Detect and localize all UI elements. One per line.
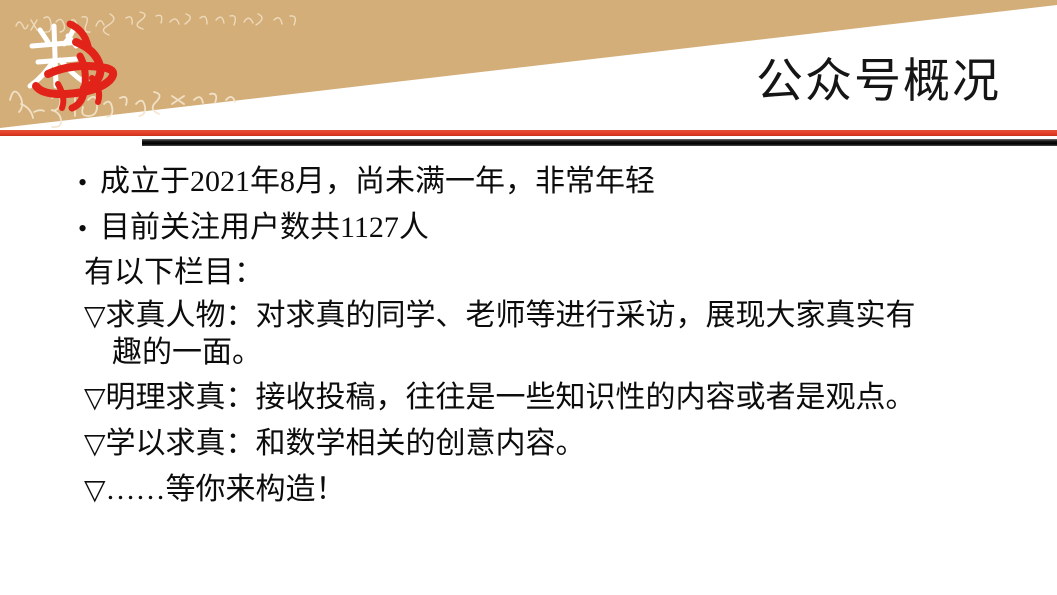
bullet-marker-icon: • [78,209,100,249]
brand-logo [14,12,134,116]
column-item-1: ▽求真人物：对求真的同学、老师等进行采访，展现大家真实有 [84,296,916,337]
logo-glyph-white [30,26,84,86]
triangle-down-icon: ▽ [84,425,106,465]
triangle-down-icon: ▽ [84,297,106,337]
triangle-down-icon: ▽ [84,379,106,419]
divider-black-rule [142,139,1057,146]
column-item-3: ▽学以求真：和数学相关的创意内容。 [84,424,586,465]
page-title: 公众号概况 [756,54,1001,110]
divider-red-rule [0,130,1057,136]
column-item-3-text: 学以求真：和数学相关的创意内容。 [106,427,586,460]
bullet-marker-icon: • [78,163,100,203]
bullet-item-1: •成立于2021年8月，尚未满一年，非常年轻 [78,162,655,203]
section-intro-text: 有以下栏目： [84,253,264,293]
bullet-item-2-text: 目前关注用户数共1127人 [100,211,429,244]
slide-body: •成立于2021年8月，尚未满一年，非常年轻 •目前关注用户数共1127人 有以… [0,152,1057,592]
presentation-slide: 公众号概况 •成立于2021年8月，尚未满一年，非常年轻 •目前关注用户数共11… [0,0,1057,595]
column-item-4-text: ……等你来构造！ [106,473,346,506]
column-item-1-text: 求真人物：对求真的同学、老师等进行采访，展现大家真实有 [106,299,916,332]
bullet-item-1-text: 成立于2021年8月，尚未满一年，非常年轻 [100,165,655,198]
column-item-4: ▽……等你来构造！ [84,470,346,511]
triangle-down-icon: ▽ [84,471,106,511]
column-item-1-continuation: 趣的一面。 [112,333,262,373]
column-item-2: ▽明理求真：接收投稿，往往是一些知识性的内容或者是观点。 [84,378,916,419]
column-item-2-text: 明理求真：接收投稿，往往是一些知识性的内容或者是观点。 [106,381,916,414]
bullet-item-2: •目前关注用户数共1127人 [78,208,429,249]
